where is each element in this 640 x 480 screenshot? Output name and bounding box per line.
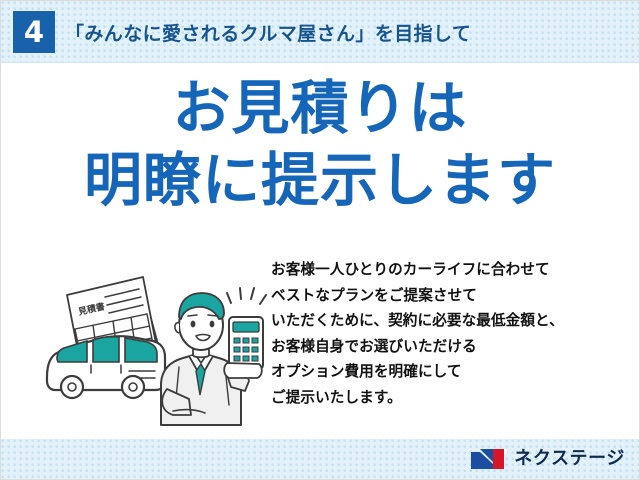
body-copy-line: お客様自身でお選びいただける (271, 334, 631, 360)
body-copy-line: お客様一人ひとりのカーライフに合わせて (271, 257, 631, 283)
body-copy-line: ベストなプランをご提案させて (271, 283, 631, 309)
step-number-badge: 4 (13, 11, 55, 53)
illustration-salesman-quote-van: 見積書 (33, 259, 271, 429)
calculator-icon (224, 317, 263, 378)
sparkle-icon (227, 288, 266, 304)
headline-line-1: お見積りは (1, 79, 639, 137)
header-divider (1, 62, 639, 63)
nextage-n-mark-icon (471, 448, 507, 470)
headline: お見積りは 明瞭に提示します (1, 79, 639, 209)
promo-banner: 4 「みんなに愛されるクルマ屋さん」を目指して お見積りは 明瞭に提示します お… (0, 0, 640, 480)
van-illustration (47, 336, 165, 398)
brand-logo: ネクステージ (471, 448, 625, 470)
body-copy-line: ご提示いたします。 (271, 385, 631, 411)
header-title: 「みんなに愛されるクルマ屋さん」を目指して (65, 19, 471, 46)
body-copy-line: オプション費用を明確にして (271, 359, 631, 385)
body-copy-line: いただくために、契約に必要な最低金額と、 (271, 308, 631, 334)
headline-line-2: 明瞭に提示します (1, 151, 639, 209)
body-copy: お客様一人ひとりのカーライフに合わせて ベストなプランをご提案させて いただくた… (271, 257, 631, 411)
brand-name: ネクステージ (514, 450, 625, 468)
